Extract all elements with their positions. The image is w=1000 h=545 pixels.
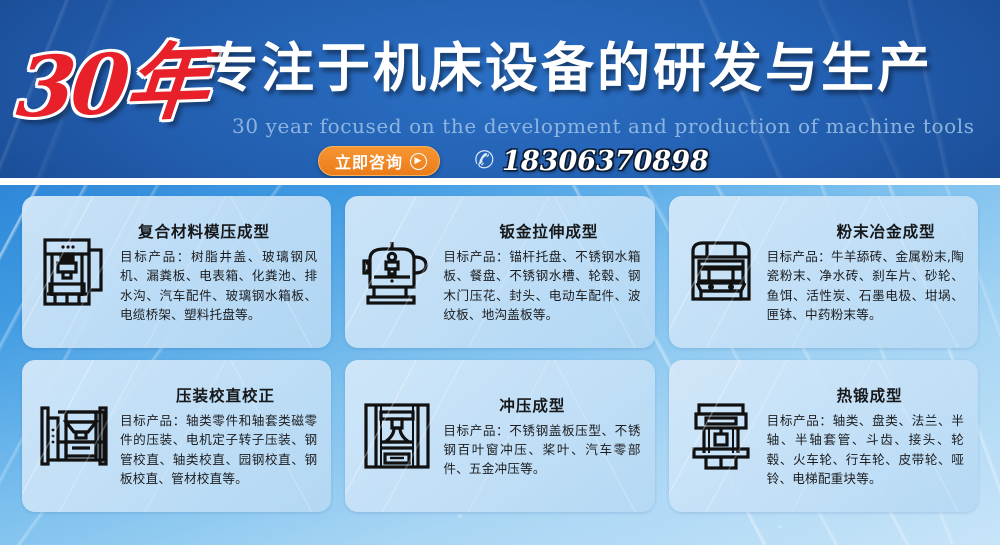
thirty-years-logo-text: 30年: [13, 29, 223, 140]
card-title: 复合材料模压成型: [120, 220, 317, 242]
card-stamping[interactable]: 冲压成型 目标产品：不锈钢盖板压型、不锈钢百叶窗冲压、桨叶、汽车零部件、五金冲压…: [345, 360, 654, 512]
cards-grid: 复合材料模压成型 目标产品：树脂井盖、玻璃钢风机、漏粪板、电表箱、化粪池、排水沟…: [0, 185, 1000, 512]
consult-now-label: 立即咨询: [335, 149, 403, 173]
card-composite-molding[interactable]: 复合材料模压成型 目标产品：树脂井盖、玻璃钢风机、漏粪板、电表箱、化粪池、排水沟…: [22, 196, 331, 348]
sheet-metal-drawing-press-icon: [355, 237, 439, 307]
arrow-right-glyph: ▶: [415, 157, 423, 166]
cards-area: 复合材料模压成型 目标产品：树脂井盖、玻璃钢风机、漏粪板、电表箱、化粪池、排水沟…: [0, 185, 1000, 545]
header-divider: [0, 178, 1000, 185]
card-description: 目标产品：锚杆托盘、不锈钢水箱板、餐盘、不锈钢水槽、轮毂、钢木门压花、封头、电动…: [443, 247, 640, 324]
card-text: 粉末冶金成型 目标产品：牛羊舔砖、金属粉末,陶瓷粉末、净水砖、刹车片、砂轮、鱼饵…: [763, 220, 964, 324]
card-text: 复合材料模压成型 目标产品：树脂井盖、玻璃钢风机、漏粪板、电表箱、化粪池、排水沟…: [116, 220, 317, 324]
compression-molding-press-icon: [32, 236, 116, 308]
card-sheet-metal-drawing[interactable]: 钣金拉伸成型 目标产品：锚杆托盘、不锈钢水箱板、餐盘、不锈钢水槽、轮毂、钢木门压…: [345, 196, 654, 348]
phone-block[interactable]: ✆ 18306370898: [474, 146, 709, 177]
card-description: 目标产品：轴类、盘类、法兰、半轴、半轴套管、斗齿、接头、轮毂、火车轮、行车轮、皮…: [767, 411, 964, 488]
header-band: 30年 专注于机床设备的研发与生产 30 year focused on the…: [0, 0, 1000, 178]
headline: 专注于机床设备的研发与生产: [205, 38, 933, 100]
card-text: 钣金拉伸成型 目标产品：锚杆托盘、不锈钢水箱板、餐盘、不锈钢水槽、轮毂、钢木门压…: [439, 220, 640, 324]
card-press-fit-straightening[interactable]: 压装校直校正 目标产品：轴类零件和轴套类磁零件的压装、电机定子转子压装、钢管校直…: [22, 360, 331, 512]
card-description: 目标产品：不锈钢盖板压型、不锈钢百叶窗冲压、桨叶、汽车零部件、五金冲压等。: [443, 421, 640, 478]
thirty-years-logo: 30年: [18, 32, 218, 144]
press-fit-straightening-icon: [32, 404, 116, 468]
hot-forging-press-icon: [679, 401, 763, 471]
card-text: 冲压成型 目标产品：不锈钢盖板压型、不锈钢百叶窗冲压、桨叶、汽车零部件、五金冲压…: [439, 394, 640, 478]
subheadline: 30 year focused on the development and p…: [232, 114, 975, 138]
card-title: 冲压成型: [443, 394, 640, 416]
promo-banner: 30年 专注于机床设备的研发与生产 30 year focused on the…: [0, 0, 1000, 545]
card-text: 热锻成型 目标产品：轴类、盘类、法兰、半轴、半轴套管、斗齿、接头、轮毂、火车轮、…: [763, 384, 964, 488]
card-description: 目标产品：轴类零件和轴套类磁零件的压装、电机定子转子压装、钢管校直、轴类校直、园…: [120, 411, 317, 488]
card-title: 钣金拉伸成型: [443, 220, 640, 242]
card-title: 粉末冶金成型: [767, 220, 964, 242]
card-title: 热锻成型: [767, 384, 964, 406]
powder-metallurgy-press-icon: [679, 237, 763, 307]
card-text: 压装校直校正 目标产品：轴类零件和轴套类磁零件的压装、电机定子转子压装、钢管校直…: [116, 384, 317, 488]
stamping-press-icon: [355, 402, 439, 470]
card-hot-forging[interactable]: 热锻成型 目标产品：轴类、盘类、法兰、半轴、半轴套管、斗齿、接头、轮毂、火车轮、…: [669, 360, 978, 512]
card-description: 目标产品：树脂井盖、玻璃钢风机、漏粪板、电表箱、化粪池、排水沟、汽车配件、玻璃钢…: [120, 247, 317, 324]
card-powder-metallurgy[interactable]: 粉末冶金成型 目标产品：牛羊舔砖、金属粉末,陶瓷粉末、净水砖、刹车片、砂轮、鱼饵…: [669, 196, 978, 348]
card-title: 压装校直校正: [120, 384, 317, 406]
cta-row: 立即咨询 ▶ ✆ 18306370898: [318, 145, 709, 177]
card-description: 目标产品：牛羊舔砖、金属粉末,陶瓷粉末、净水砖、刹车片、砂轮、鱼饵、活性炭、石墨…: [767, 247, 964, 324]
phone-icon: ✆: [472, 148, 495, 175]
arrow-right-icon: ▶: [410, 153, 427, 170]
phone-number: 18306370898: [502, 146, 709, 177]
consult-now-button[interactable]: 立即咨询 ▶: [318, 146, 440, 176]
